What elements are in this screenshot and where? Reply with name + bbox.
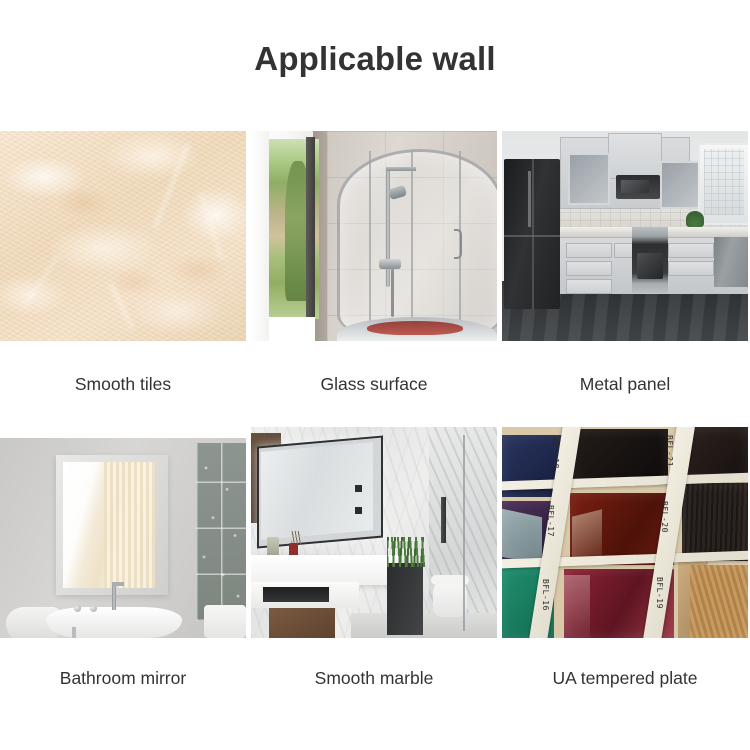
sample-plate-highlight xyxy=(564,575,590,638)
marble-floor xyxy=(351,613,497,638)
wall-switch xyxy=(355,507,362,514)
vanity-counter xyxy=(251,555,399,585)
cabinet-drawer xyxy=(668,243,714,258)
caption-glass-surface: Glass surface xyxy=(251,341,497,427)
folded-towel xyxy=(204,605,246,638)
ua-tempered-plate-photo[interactable]: BFL-18 BFL-17 BFL-16 BFL-21 BFL-20 BFL-1… xyxy=(502,427,748,638)
grid-row-2: Bathroom mirror xyxy=(0,427,750,718)
ceiling-strip xyxy=(0,427,246,438)
caption-metal-panel: Metal panel xyxy=(502,341,748,427)
bathroom-mirror-photo[interactable] xyxy=(0,427,246,638)
oven-door-window xyxy=(637,253,663,279)
black-planter xyxy=(387,563,423,635)
shower-mixer xyxy=(379,259,401,269)
cabinet-drawer xyxy=(566,261,612,276)
cabinet-drawer xyxy=(566,279,612,294)
planter-foliage xyxy=(387,537,427,567)
caption-ua-tempered-plate: UA tempered plate xyxy=(502,638,748,718)
fridge-seam-vertical xyxy=(532,159,534,309)
curtain-reflection xyxy=(104,462,155,588)
sample-code-label: BFL-17 xyxy=(546,505,555,537)
grid-cell-smooth-tiles[interactable]: Smooth tiles xyxy=(0,131,246,427)
caption-bathroom-mirror: Bathroom mirror xyxy=(0,638,246,718)
smooth-tiles-photo[interactable] xyxy=(0,131,246,341)
window-frame xyxy=(306,137,315,323)
caption-smooth-tiles: Smooth tiles xyxy=(0,341,246,427)
dishwasher-panel xyxy=(714,237,748,287)
wash-basin xyxy=(46,607,182,638)
tile-vein xyxy=(23,256,58,307)
page-title: Applicable wall xyxy=(0,40,750,78)
kitchen-window-glass xyxy=(704,149,744,215)
shower-enclosure xyxy=(337,149,497,341)
basin-valve xyxy=(74,605,81,612)
shower-riser-arm xyxy=(386,167,416,171)
basin-valve xyxy=(90,605,97,612)
curtain xyxy=(251,131,269,341)
shower-door-handle xyxy=(454,229,462,259)
wall-switch xyxy=(355,485,362,492)
sample-code-label: BFL-21 xyxy=(665,435,674,467)
shower-rail xyxy=(369,151,371,337)
fridge-handle xyxy=(528,171,531,227)
sample-code-label: BFL-19 xyxy=(655,577,664,609)
glass-surface-photo[interactable] xyxy=(251,131,497,341)
basin-tap xyxy=(112,582,116,610)
glass-cabinet-door xyxy=(660,161,700,209)
sample-code-label: BFL-18 xyxy=(551,437,560,469)
cabinet-drawer xyxy=(566,243,612,258)
vanity-wood-drawer xyxy=(269,608,335,638)
grid-cell-metal-panel[interactable]: Metal panel xyxy=(502,131,748,427)
sample-plate-oak xyxy=(690,565,748,638)
grid-cell-smooth-marble[interactable]: Smooth marble xyxy=(251,427,497,718)
metal-panel-photo[interactable] xyxy=(502,131,748,341)
tile-vein xyxy=(199,192,223,259)
cabinet-drawer xyxy=(668,261,714,276)
sample-code-label: BFL-20 xyxy=(660,501,669,533)
grid-cell-ua-tempered-plate[interactable]: BFL-18 BFL-17 BFL-16 BFL-21 BFL-20 BFL-1… xyxy=(502,427,748,718)
caption-smooth-marble: Smooth marble xyxy=(251,638,497,718)
shower-rail xyxy=(411,151,413,337)
sample-code-label: BFL-16 xyxy=(541,579,550,611)
grid-cell-bathroom-mirror[interactable]: Bathroom mirror xyxy=(0,427,246,718)
grid-row-1: Smooth tiles xyxy=(0,131,750,427)
wall-type-grid: Smooth tiles xyxy=(0,131,750,718)
glass-cabinet-door xyxy=(568,153,610,205)
upper-cabinet-tall xyxy=(608,133,662,179)
sample-plate-ebony xyxy=(682,483,748,561)
smooth-marble-photo[interactable] xyxy=(251,427,497,638)
microwave-door xyxy=(621,180,649,193)
basin-tap-spout xyxy=(112,582,124,586)
counter-plant xyxy=(686,211,704,227)
shower-hose xyxy=(391,269,394,317)
shower-riser xyxy=(386,167,390,287)
applicable-wall-infographic: Applicable wall Smooth tiles xyxy=(0,0,750,750)
grid-cell-glass-surface[interactable]: Glass surface xyxy=(251,131,497,427)
tile-vein xyxy=(153,144,189,229)
glass-divider xyxy=(463,435,465,631)
tile-vein xyxy=(109,283,134,329)
shower-fixture xyxy=(441,497,446,543)
shower-tray-mat xyxy=(367,321,463,335)
sample-plate-steel xyxy=(502,509,542,566)
basin-pedestal xyxy=(72,627,76,638)
patterned-tile-wall xyxy=(196,443,246,621)
vanity-niche xyxy=(263,587,329,602)
